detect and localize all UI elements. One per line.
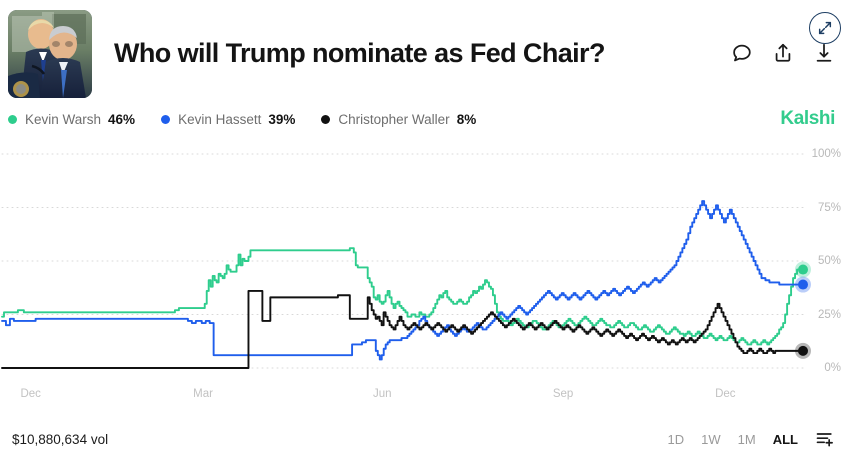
download-icon[interactable] [813,42,835,64]
chart-legend: Kevin Warsh 46% Kevin Hassett 39% Christ… [0,100,851,138]
trump-powell-photo-icon [8,10,92,98]
x-axis-tick: Mar [193,388,213,400]
x-axis-tick: Jun [373,388,392,400]
time-range-selector: 1D1W1MALL [668,429,835,449]
legend-label: Kevin Hassett [178,112,261,127]
range-button-all[interactable]: ALL [773,432,798,447]
share-icon[interactable] [772,42,794,64]
price-chart[interactable]: 0%25%50%75%100% [0,144,851,382]
chart-footer: $10,880,634 vol 1D1W1MALL [0,417,851,461]
legend-color-dot-black [321,115,330,124]
expand-button[interactable] [809,12,841,44]
x-axis-tick: Dec [20,388,40,400]
market-header: Who will Trump nominate as Fed Chair? [0,0,851,100]
list-plus-icon[interactable] [815,429,835,449]
range-button-1d[interactable]: 1D [668,432,685,447]
range-button-1w[interactable]: 1W [701,432,721,447]
comment-icon[interactable] [731,42,753,64]
x-axis-tick: Dec [715,388,735,400]
legend-label: Kevin Warsh [25,112,101,127]
x-axis-labels: DecMarJunSepDec [0,382,851,408]
legend-label: Christopher Waller [338,112,449,127]
chart-canvas [0,144,851,382]
expand-arrows-icon [817,20,833,36]
legend-item-christopher-waller[interactable]: Christopher Waller 8% [321,112,476,127]
legend-percent: 8% [457,112,477,127]
legend-percent: 46% [108,112,135,127]
range-button-1m[interactable]: 1M [738,432,756,447]
legend-color-dot-green [8,115,17,124]
x-axis-tick: Sep [553,388,573,400]
legend-percent: 39% [268,112,295,127]
kalshi-logo: Kalshi [780,108,835,130]
header-actions [731,42,835,64]
legend-item-kevin-hassett[interactable]: Kevin Hassett 39% [161,112,295,127]
volume-label: $10,880,634 vol [12,432,108,447]
page-title: Who will Trump nominate as Fed Chair? [114,39,605,69]
legend-item-kevin-warsh[interactable]: Kevin Warsh 46% [8,112,135,127]
legend-color-dot-blue [161,115,170,124]
market-thumbnail [8,10,92,98]
